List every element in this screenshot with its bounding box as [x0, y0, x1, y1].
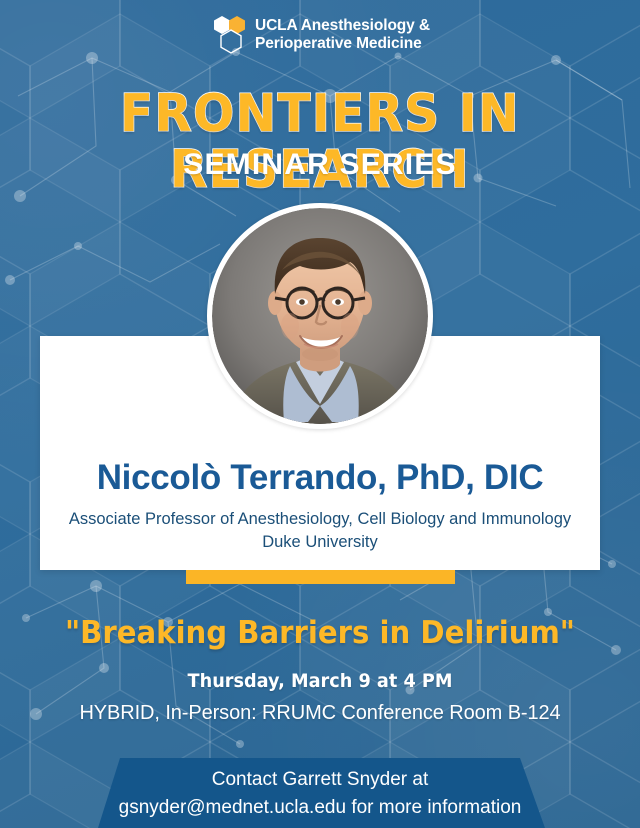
hexagon-outline-icon [220, 29, 242, 54]
speaker-name: Niccolò Terrando, PhD, DIC [40, 458, 600, 498]
avatar [207, 203, 433, 429]
org-name-line2: Perioperative Medicine [255, 35, 430, 53]
speaker-affiliation-line2: Duke University [48, 531, 592, 554]
contact-line2: gsnyder@mednet.ucla.edu for more informa… [0, 794, 640, 822]
gold-accent-bar [186, 570, 455, 584]
contact-info: Contact Garrett Snyder at gsnyder@mednet… [0, 766, 640, 822]
ucla-hexagon-logo-icon [210, 16, 248, 60]
ucla-logo-block: UCLA Anesthesiology & Perioperative Medi… [0, 14, 640, 60]
talk-location: HYBRID, In-Person: RRUMC Conference Room… [0, 702, 640, 725]
talk-title: "Breaking Barriers in Delirium" [19, 615, 621, 651]
speaker-affiliation-line1: Associate Professor of Anesthesiology, C… [48, 508, 592, 531]
speaker-affiliation: Associate Professor of Anesthesiology, C… [48, 508, 592, 554]
org-name-line1: UCLA Anesthesiology & [255, 17, 430, 35]
talk-date: Thursday, March 9 at 4 PM [22, 670, 617, 692]
seminar-poster: UCLA Anesthesiology & Perioperative Medi… [0, 0, 640, 828]
org-name: UCLA Anesthesiology & Perioperative Medi… [255, 14, 430, 53]
contact-line1: Contact Garrett Snyder at [0, 766, 640, 794]
speaker-photo [212, 208, 428, 424]
page-subtitle: SEMINAR SERIES [0, 148, 640, 182]
